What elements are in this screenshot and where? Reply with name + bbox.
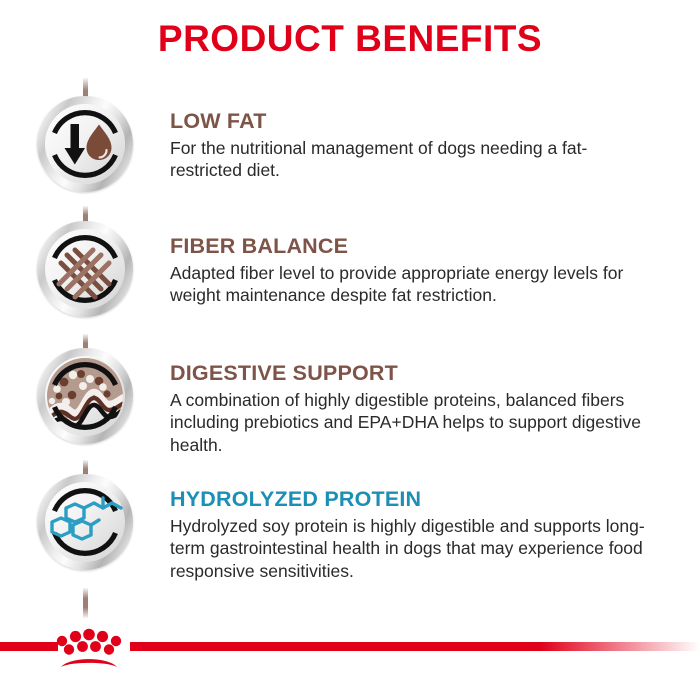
benefit-row: LOW FAT For the nutritional management o… [0, 88, 700, 213]
benefit-text-container: FIBER BALANCE Adapted fiber level to pro… [170, 213, 700, 307]
royal-canin-crown-logo [52, 628, 126, 672]
page-title: PRODUCT BENEFITS [0, 18, 700, 60]
benefit-row: FIBER BALANCE Adapted fiber level to pro… [0, 213, 700, 340]
benefits-list: LOW FAT For the nutritional management o… [0, 88, 700, 596]
benefit-icon-container [0, 213, 170, 317]
digestive-support-icon [37, 348, 133, 444]
footer [0, 628, 700, 700]
benefit-heading: FIBER BALANCE [170, 235, 658, 258]
benefit-heading: DIGESTIVE SUPPORT [170, 362, 658, 385]
footer-bar-right [130, 642, 700, 651]
benefit-body: For the nutritional management of dogs n… [170, 137, 658, 183]
connector-dash-bottom [83, 588, 88, 618]
hydrolyzed-protein-icon [37, 474, 133, 570]
benefit-row: HYDROLYZED PROTEIN Hydrolyzed soy protei… [0, 466, 700, 596]
benefit-row: DIGESTIVE SUPPORT A combination of highl… [0, 340, 700, 466]
benefit-heading: LOW FAT [170, 110, 658, 133]
benefit-heading: HYDROLYZED PROTEIN [170, 488, 658, 511]
benefit-body: Adapted fiber level to provide appropria… [170, 262, 658, 308]
benefit-body: Hydrolyzed soy protein is highly digesti… [170, 515, 658, 583]
benefit-body: A combination of highly digestible prote… [170, 389, 658, 457]
benefit-text-container: HYDROLYZED PROTEIN Hydrolyzed soy protei… [170, 466, 700, 583]
benefit-icon-container [0, 466, 170, 570]
footer-bar-left [0, 642, 58, 651]
fiber-balance-icon [37, 221, 133, 317]
benefit-icon-container [0, 88, 170, 192]
benefit-icon-container [0, 340, 170, 444]
low-fat-icon [37, 96, 133, 192]
product-benefits-panel: PRODUCT BENEFITS [0, 0, 700, 700]
benefit-text-container: LOW FAT For the nutritional management o… [170, 88, 700, 182]
benefit-text-container: DIGESTIVE SUPPORT A combination of highl… [170, 340, 700, 457]
